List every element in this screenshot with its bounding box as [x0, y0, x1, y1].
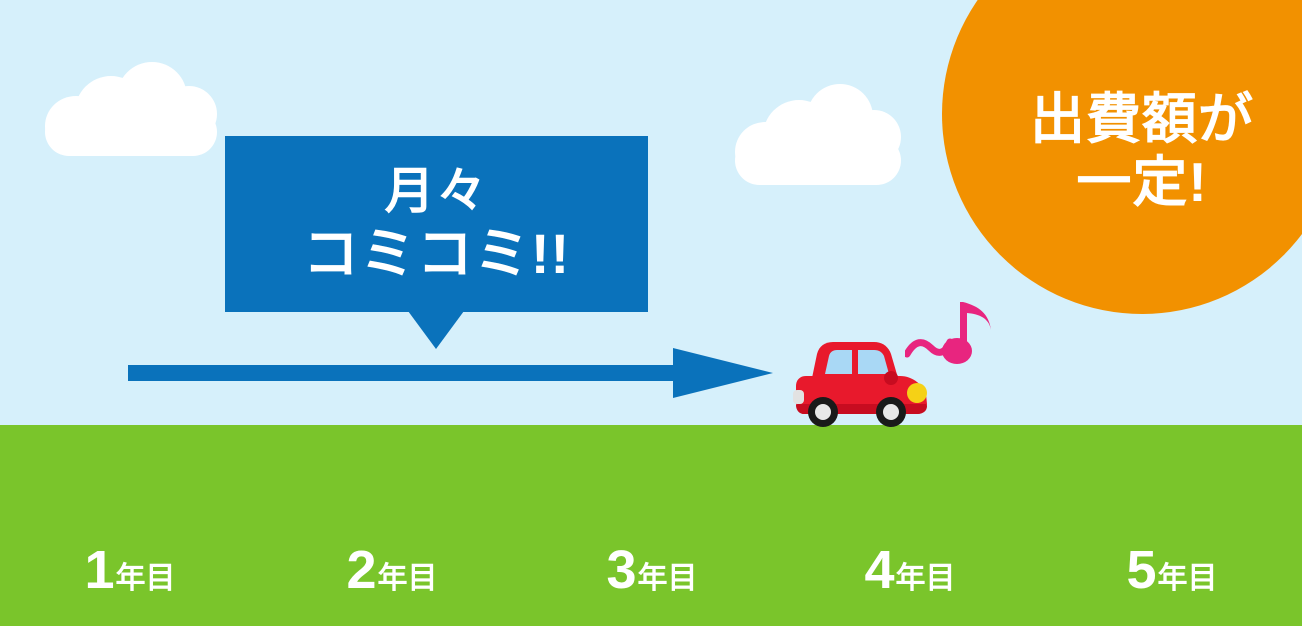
burst-badge-line-1: 出費額が	[1030, 88, 1254, 151]
year-label-number: 5	[1126, 543, 1155, 597]
year-label-5: 5年目	[1126, 543, 1217, 597]
year-label-3: 3年目	[606, 543, 697, 597]
speech-bubble-line-2: コミコミ!!	[303, 224, 570, 284]
cloud-icon-left	[45, 62, 217, 156]
burst-badge-line-2: 一定!	[1076, 151, 1207, 214]
car-icon	[790, 336, 930, 428]
speech-bubble-tail-icon	[408, 311, 464, 349]
year-label-number: 2	[346, 543, 375, 597]
cloud-icon-right	[735, 84, 901, 185]
infographic-canvas: 出費額が 一定! 月々 コミコミ!!	[0, 0, 1302, 626]
year-label-1: 1年目	[84, 543, 175, 597]
speech-bubble: 月々 コミコミ!!	[225, 136, 648, 312]
year-label-unit: 年目	[896, 564, 956, 594]
speech-bubble-line-1: 月々	[385, 164, 489, 218]
year-label-number: 4	[864, 543, 893, 597]
year-label-unit: 年目	[638, 564, 698, 594]
year-label-unit: 年目	[116, 564, 176, 594]
year-label-4: 4年目	[864, 543, 955, 597]
year-label-2: 2年目	[346, 543, 437, 597]
year-label-number: 1	[84, 543, 113, 597]
year-label-unit: 年目	[1158, 564, 1218, 594]
year-label-number: 3	[606, 543, 635, 597]
timeline-arrow-icon	[128, 348, 773, 398]
year-label-unit: 年目	[378, 564, 438, 594]
